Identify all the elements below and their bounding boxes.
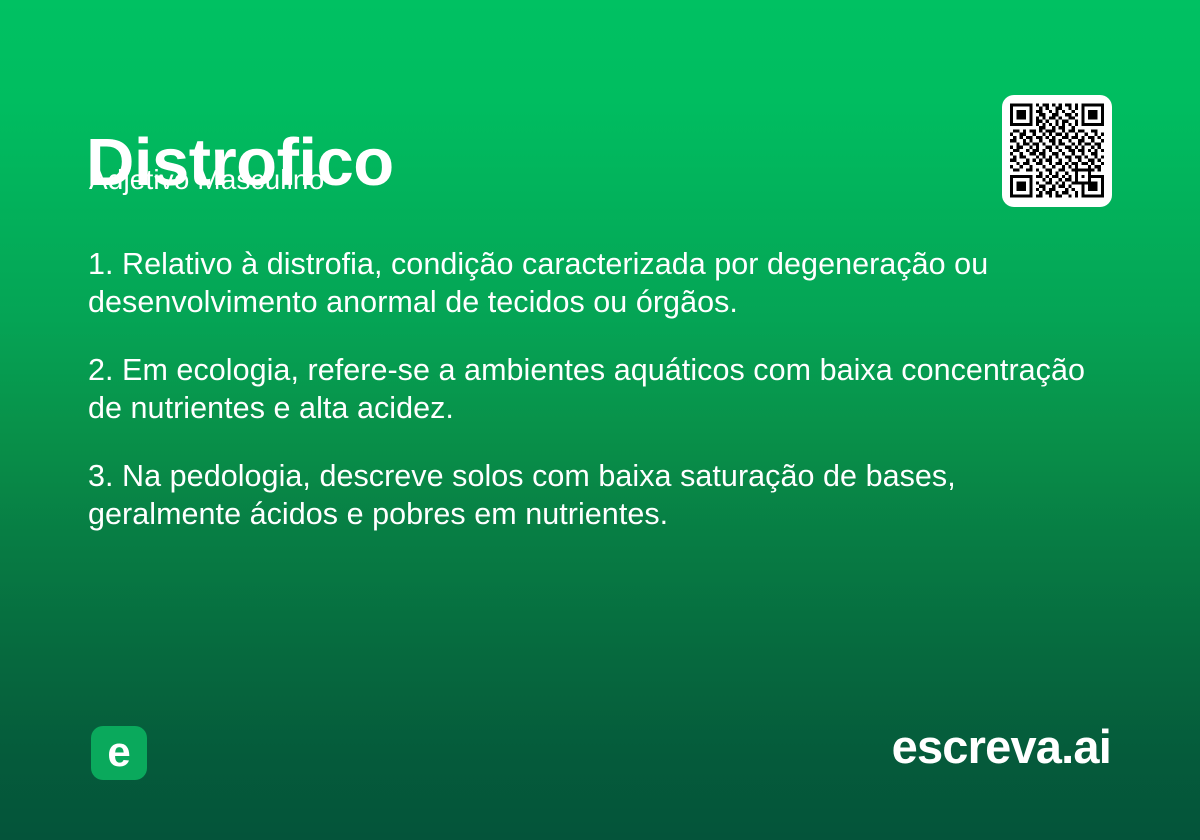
definition-card: Distrofico Adjetivo Masculino 1. Relativ… — [0, 0, 1200, 840]
definition-item: 3. Na pedologia, descreve solos com baix… — [88, 457, 1088, 533]
brand-wordmark[interactable]: escreva.ai — [892, 723, 1111, 770]
brand-logo-letter: e — [91, 731, 147, 773]
definition-item: 2. Em ecologia, refere-se a ambientes aq… — [88, 351, 1088, 427]
qr-code[interactable] — [1002, 95, 1112, 207]
qr-code-icon — [1010, 103, 1104, 198]
definition-item: 1. Relativo à distrofia, condição caract… — [88, 245, 1088, 321]
definition-list: 1. Relativo à distrofia, condição caract… — [88, 245, 1088, 533]
word-class-label: Adjetivo Masculino — [89, 166, 324, 194]
brand-logo[interactable]: e — [91, 726, 147, 780]
